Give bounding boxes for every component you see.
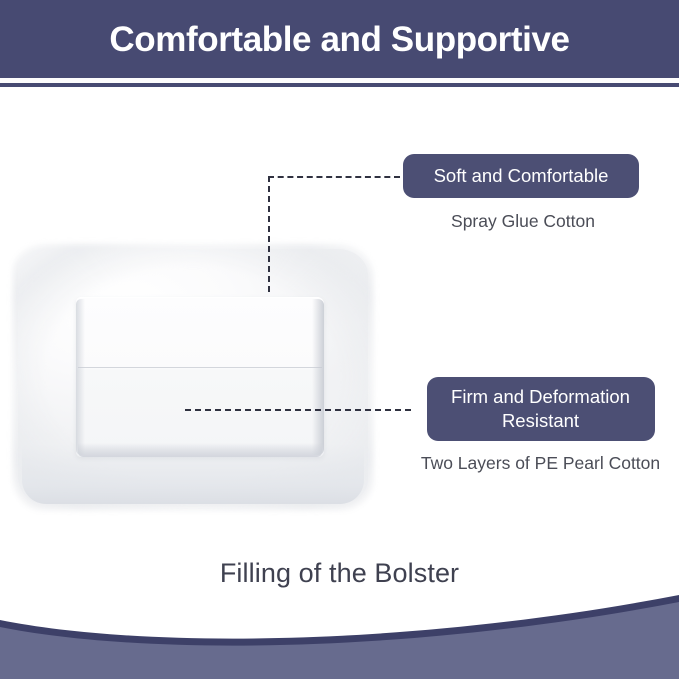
pe-pearl-cotton-block: [76, 297, 324, 457]
header-divider-rule: [0, 83, 679, 87]
callout-badge: Firm and Deformation Resistant: [427, 377, 655, 441]
block-left-edge: [76, 299, 85, 455]
spray-glue-cotton-pad: [18, 249, 368, 504]
callout-soft-and-comfortable: Soft and Comfortable Spray Glue Cotton: [403, 154, 643, 232]
connector-line-bottom-horizontal: [185, 409, 411, 411]
callout-caption: Two Layers of PE Pearl Cotton: [418, 453, 663, 474]
block-right-edge: [312, 299, 324, 455]
page-title: Comfortable and Supportive: [109, 22, 569, 57]
connector-line-top-vertical: [268, 176, 270, 292]
callout-firm-and-deformation-resistant: Firm and Deformation Resistant Two Layer…: [418, 377, 663, 474]
footer-caption: Filling of the Bolster: [0, 558, 679, 589]
header-band: Comfortable and Supportive: [0, 0, 679, 78]
product-illustration: [8, 243, 380, 518]
callout-badge: Soft and Comfortable: [403, 154, 639, 198]
connector-line-top-horizontal: [268, 176, 400, 178]
block-layer-seam: [78, 367, 322, 368]
bottom-wave-decoration: [0, 589, 679, 679]
callout-caption: Spray Glue Cotton: [403, 211, 643, 232]
block-bottom-edge: [78, 443, 322, 457]
